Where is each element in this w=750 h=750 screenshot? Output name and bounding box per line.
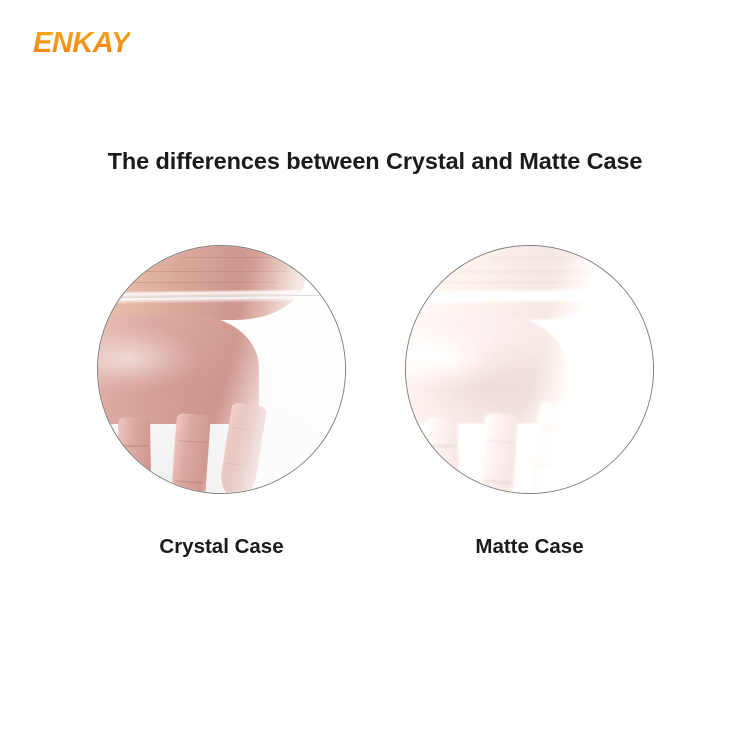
caption-matte-case: Matte Case (405, 535, 654, 559)
comparison-panel-crystal (97, 245, 346, 494)
frosted-overlay (405, 245, 654, 494)
crystal-case-circle-frame (97, 245, 346, 494)
matte-case-photo (405, 245, 654, 494)
caption-crystal-case: Crystal Case (97, 535, 346, 559)
product-comparison-graphic: ENKAY The differences between Crystal an… (0, 0, 750, 750)
crystal-case-photo (97, 245, 346, 494)
case-surface-sheen (97, 245, 346, 494)
comparison-panel-matte (405, 245, 654, 494)
page-title: The differences between Crystal and Matt… (0, 148, 750, 175)
enkay-brand-logo: ENKAY (33, 27, 130, 60)
matte-case-circle-frame (405, 245, 654, 494)
